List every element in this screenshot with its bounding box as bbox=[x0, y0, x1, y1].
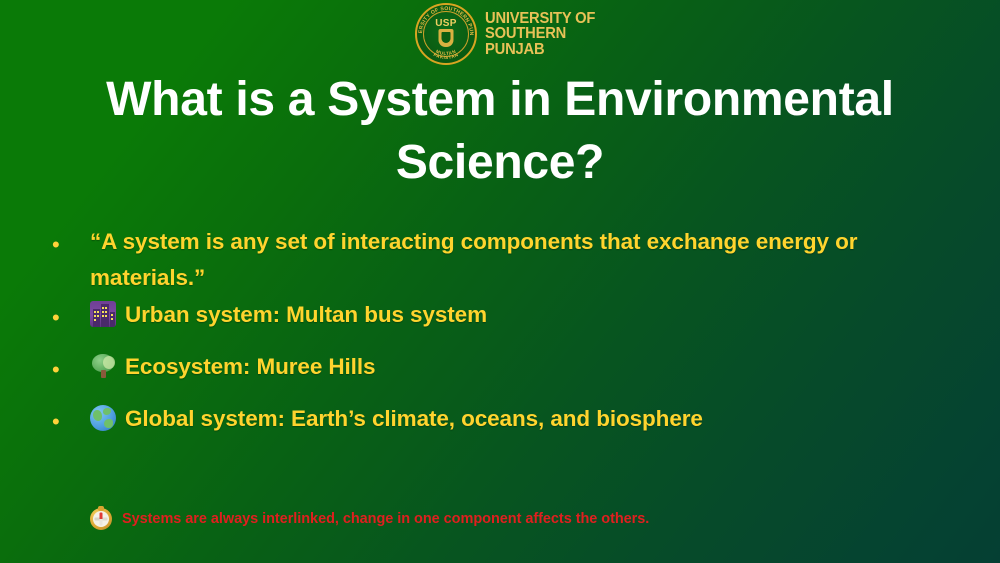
bullet-text-wrap: Urban system: Multan bus system bbox=[90, 297, 964, 333]
bullet-list: • “A system is any set of interacting co… bbox=[44, 224, 964, 453]
compass-needle bbox=[100, 513, 103, 526]
usp-university-seal-icon: UNIVERSITY OF SOUTHERN PUNJAB MULTAN PAK… bbox=[415, 3, 477, 65]
university-name-line-3: PUNJAB bbox=[485, 42, 595, 57]
seal-shield-icon bbox=[439, 29, 454, 47]
tree-crown-highlight bbox=[103, 356, 115, 369]
bullet-marker: • bbox=[44, 349, 90, 391]
bullet-text-wrap: Ecosystem: Muree Hills bbox=[90, 349, 964, 385]
list-item: • Ecosystem: Muree Hills bbox=[44, 349, 964, 401]
slide-title: What is a System in Environmental Scienc… bbox=[30, 68, 970, 195]
list-item: • “A system is any set of interacting co… bbox=[44, 224, 964, 297]
cityscape-icon bbox=[90, 301, 116, 327]
university-name-line-2: SOUTHERN bbox=[485, 26, 595, 41]
footnote-row: Systems are always interlinked, change i… bbox=[90, 508, 649, 530]
bullet-text: “A system is any set of interacting comp… bbox=[90, 224, 964, 297]
bullet-marker: • bbox=[44, 224, 90, 266]
compass-icon bbox=[90, 508, 112, 530]
bullet-label: Urban system: Multan bus system bbox=[125, 302, 487, 327]
tree-icon bbox=[90, 353, 116, 379]
bullet-label: Ecosystem: Muree Hills bbox=[125, 354, 375, 379]
list-item: • Global system: Earth’s climate, oceans… bbox=[44, 401, 964, 453]
footnote-text: Systems are always interlinked, change i… bbox=[122, 511, 649, 527]
presentation-slide: UNIVERSITY OF SOUTHERN PUNJAB MULTAN PAK… bbox=[0, 0, 1000, 563]
tree-trunk bbox=[101, 370, 106, 378]
list-item: • bbox=[44, 297, 964, 349]
bullet-marker: • bbox=[44, 401, 90, 443]
globe-icon bbox=[90, 405, 116, 431]
university-name: UNIVERSITY OF SOUTHERN PUNJAB bbox=[485, 11, 595, 57]
university-name-line-1: UNIVERSITY OF bbox=[485, 11, 595, 26]
university-logo-block: UNIVERSITY OF SOUTHERN PUNJAB MULTAN PAK… bbox=[415, 2, 601, 66]
bullet-marker: • bbox=[44, 297, 90, 339]
bullet-text-wrap: Global system: Earth’s climate, oceans, … bbox=[90, 401, 964, 437]
bullet-label: Global system: Earth’s climate, oceans, … bbox=[125, 406, 703, 431]
seal-center-label: USP bbox=[435, 19, 456, 29]
